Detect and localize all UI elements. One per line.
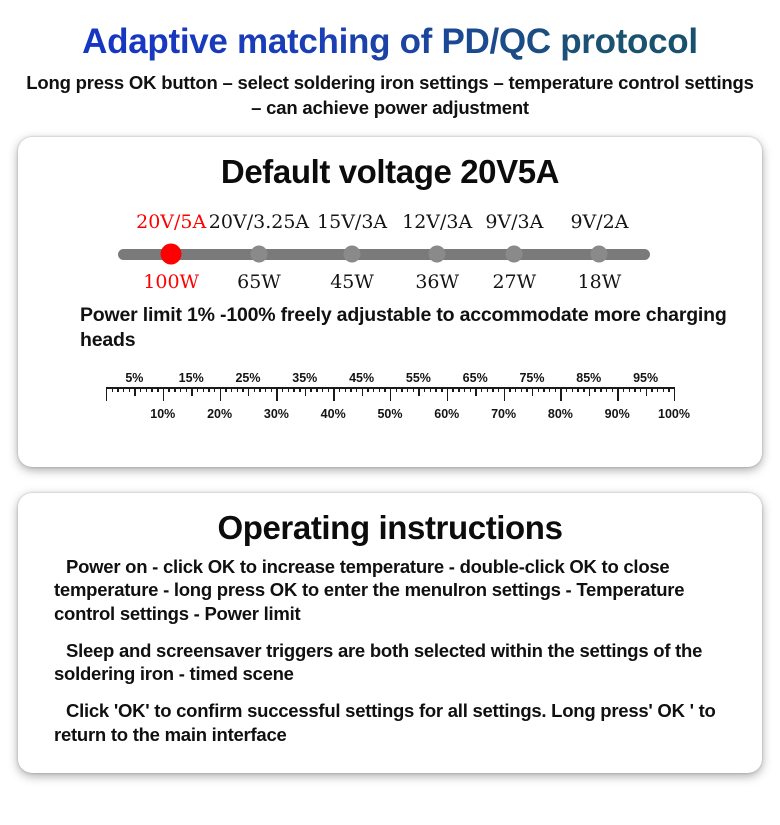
voltage-stop-label-2: 15V/3A: [317, 211, 387, 233]
ruler-tick: [225, 387, 226, 392]
ruler-tick: [606, 387, 607, 392]
instruction-paragraph-1: Sleep and screensaver triggers are both …: [54, 639, 736, 686]
ruler-tick: [356, 387, 357, 392]
ruler-tick: [322, 387, 323, 392]
ruler-tick: [543, 387, 544, 392]
ruler-tick: [231, 387, 232, 392]
ruler-tick: [134, 387, 135, 396]
ruler-tick: [663, 387, 664, 392]
voltage-stop-power-0: 100W: [143, 271, 199, 293]
ruler-tick: [242, 387, 243, 392]
ruler-tick: [424, 387, 425, 392]
ruler-tick: [259, 387, 260, 392]
ruler-tick: [589, 387, 590, 396]
ruler-tick: [447, 387, 448, 401]
ruler-top-label-2: 25%: [235, 371, 260, 385]
ruler-tick: [390, 387, 391, 401]
ruler-tick: [452, 387, 453, 392]
ruler-tick: [362, 387, 363, 396]
ruler-tick: [271, 387, 272, 392]
ruler-tick: [220, 387, 221, 401]
voltage-stop-label-5: 9V/2A: [570, 211, 628, 233]
ruler-tick: [163, 387, 164, 401]
instruction-paragraph-0: Power on - click OK to increase temperat…: [54, 555, 736, 626]
page-subtitle: Long press OK button – select soldering …: [14, 71, 766, 121]
ruler-tick: [174, 387, 175, 392]
ruler-tick: [129, 387, 130, 392]
ruler-top-label-8: 85%: [576, 371, 601, 385]
ruler-tick: [492, 387, 493, 392]
ruler-top-label-9: 95%: [633, 371, 658, 385]
voltage-stop-label-3: 12V/3A: [402, 211, 472, 233]
voltage-stop-3[interactable]: [429, 246, 446, 263]
voltage-stop-5[interactable]: [591, 246, 608, 263]
operating-instructions-card: Operating instructions Power on - click …: [18, 493, 762, 773]
ruler-tick: [208, 387, 209, 392]
ruler-bottom-label-4: 50%: [377, 407, 402, 421]
ruler-tick: [151, 387, 152, 392]
voltage-slider[interactable]: 20V/5A100W20V/3.25A65W15V/3A45W12V/3A36W…: [18, 213, 762, 299]
ruler-tick: [594, 387, 595, 392]
ruler-tick: [577, 387, 578, 392]
operating-instructions-title: Operating instructions: [18, 493, 762, 547]
ruler-bottom-label-9: 100%: [658, 407, 690, 421]
voltage-stop-label-0: 20V/5A: [136, 211, 206, 233]
ruler-tick: [651, 387, 652, 392]
ruler-bottom-label-5: 60%: [434, 407, 459, 421]
ruler-tick: [186, 387, 187, 392]
ruler-tick: [214, 387, 215, 392]
ruler-tick: [623, 387, 624, 392]
ruler-bottom-label-1: 20%: [207, 407, 232, 421]
ruler-tick: [549, 387, 550, 392]
instructions-list: Power on - click OK to increase temperat…: [18, 547, 762, 747]
ruler-tick: [367, 387, 368, 392]
ruler-tick: [191, 387, 192, 396]
ruler-top-label-5: 55%: [406, 371, 431, 385]
ruler-tick: [203, 387, 204, 392]
ruler-tick: [310, 387, 311, 392]
voltage-stop-2[interactable]: [344, 246, 361, 263]
ruler-tick: [458, 387, 459, 392]
voltage-slider-track[interactable]: [118, 249, 650, 260]
ruler-tick: [646, 387, 647, 396]
ruler-tick: [464, 387, 465, 392]
ruler-tick: [521, 387, 522, 392]
voltage-stop-1[interactable]: [250, 246, 267, 263]
ruler-tick: [237, 387, 238, 392]
ruler-tick: [288, 387, 289, 392]
voltage-stop-power-4: 27W: [492, 271, 536, 293]
ruler-tick: [248, 387, 249, 396]
ruler-tick: [583, 387, 584, 392]
power-limit-description: Power limit 1% -100% freely adjustable t…: [80, 303, 740, 354]
ruler-tick: [560, 387, 561, 401]
ruler-bottom-label-6: 70%: [491, 407, 516, 421]
ruler-tick: [612, 387, 613, 392]
ruler-bottom-label-3: 40%: [321, 407, 346, 421]
page-root: Adaptive matching of PD/QC protocol Long…: [0, 0, 780, 825]
ruler-tick: [441, 387, 442, 392]
ruler-tick: [515, 387, 516, 392]
ruler-tick: [316, 387, 317, 392]
ruler-tick: [435, 387, 436, 392]
ruler-tick: [282, 387, 283, 392]
voltage-stop-power-1: 65W: [237, 271, 281, 293]
ruler-tick: [600, 387, 601, 392]
ruler-tick: [509, 387, 510, 392]
ruler-tick: [657, 387, 658, 392]
default-voltage-card: Default voltage 20V5A 20V/5A100W20V/3.25…: [18, 137, 762, 467]
ruler-tick: [617, 387, 618, 401]
ruler-tick: [168, 387, 169, 392]
ruler-tick: [407, 387, 408, 392]
ruler-tick: [140, 387, 141, 392]
ruler-top-label-1: 15%: [179, 371, 204, 385]
power-limit-ruler[interactable]: 5%15%25%35%45%55%65%75%85%95%10%20%30%40…: [18, 367, 762, 429]
ruler-tick: [254, 387, 255, 392]
ruler-top-label-7: 75%: [519, 371, 544, 385]
ruler-tick: [384, 387, 385, 392]
ruler-tick: [566, 387, 567, 392]
page-header: Adaptive matching of PD/QC protocol Long…: [0, 0, 780, 121]
ruler-tick: [123, 387, 124, 392]
ruler-tick: [396, 387, 397, 392]
ruler-bottom-label-2: 30%: [264, 407, 289, 421]
ruler-tick: [276, 387, 277, 401]
ruler-tick: [532, 387, 533, 396]
ruler-tick: [470, 387, 471, 392]
default-voltage-title: Default voltage 20V5A: [18, 137, 762, 191]
ruler-tick: [157, 387, 158, 392]
ruler-top-label-3: 35%: [292, 371, 317, 385]
ruler-tick: [498, 387, 499, 392]
ruler-tick: [328, 387, 329, 392]
ruler-tick: [668, 387, 669, 392]
ruler-tick: [629, 387, 630, 392]
ruler-tick: [640, 387, 641, 392]
ruler-tick: [305, 387, 306, 396]
ruler-tick: [504, 387, 505, 401]
ruler-bottom-label-7: 80%: [548, 407, 573, 421]
ruler-tick: [430, 387, 431, 392]
ruler-tick: [117, 387, 118, 392]
ruler-scale[interactable]: 5%15%25%35%45%55%65%75%85%95%10%20%30%40…: [106, 387, 674, 403]
ruler-tick: [339, 387, 340, 392]
ruler-tick: [379, 387, 380, 392]
ruler-tick: [293, 387, 294, 392]
ruler-tick: [481, 387, 482, 392]
ruler-tick: [538, 387, 539, 392]
ruler-tick: [555, 387, 556, 392]
ruler-tick: [572, 387, 573, 392]
ruler-tick: [634, 387, 635, 392]
ruler-top-label-6: 65%: [463, 371, 488, 385]
voltage-stop-power-5: 18W: [578, 271, 622, 293]
ruler-tick: [112, 387, 113, 392]
ruler-top-label-0: 5%: [125, 371, 143, 385]
voltage-stop-label-1: 20V/3.25A: [209, 211, 309, 233]
instruction-paragraph-2: Click 'OK' to confirm successful setting…: [54, 699, 736, 746]
ruler-tick: [333, 387, 334, 401]
voltage-stop-label-4: 9V/3A: [485, 211, 543, 233]
ruler-tick: [197, 387, 198, 392]
ruler-tick: [345, 387, 346, 392]
ruler-bottom-label-0: 10%: [150, 407, 175, 421]
voltage-stop-0[interactable]: [161, 244, 182, 265]
ruler-tick: [475, 387, 476, 396]
voltage-stop-power-3: 36W: [415, 271, 459, 293]
ruler-top-label-4: 45%: [349, 371, 374, 385]
ruler-tick: [401, 387, 402, 392]
ruler-tick: [373, 387, 374, 392]
ruler-tick: [299, 387, 300, 392]
page-title: Adaptive matching of PD/QC protocol: [14, 0, 766, 61]
ruler-tick: [413, 387, 414, 392]
ruler-tick: [350, 387, 351, 392]
ruler-tick: [418, 387, 419, 396]
ruler-tick: [265, 387, 266, 392]
ruler-bottom-label-8: 90%: [605, 407, 630, 421]
ruler-tick: [526, 387, 527, 392]
ruler-tick: [674, 387, 675, 401]
ruler-tick: [106, 387, 107, 401]
ruler-tick: [487, 387, 488, 392]
voltage-stop-power-2: 45W: [330, 271, 374, 293]
voltage-stop-4[interactable]: [506, 246, 523, 263]
ruler-tick: [180, 387, 181, 392]
ruler-tick: [146, 387, 147, 392]
